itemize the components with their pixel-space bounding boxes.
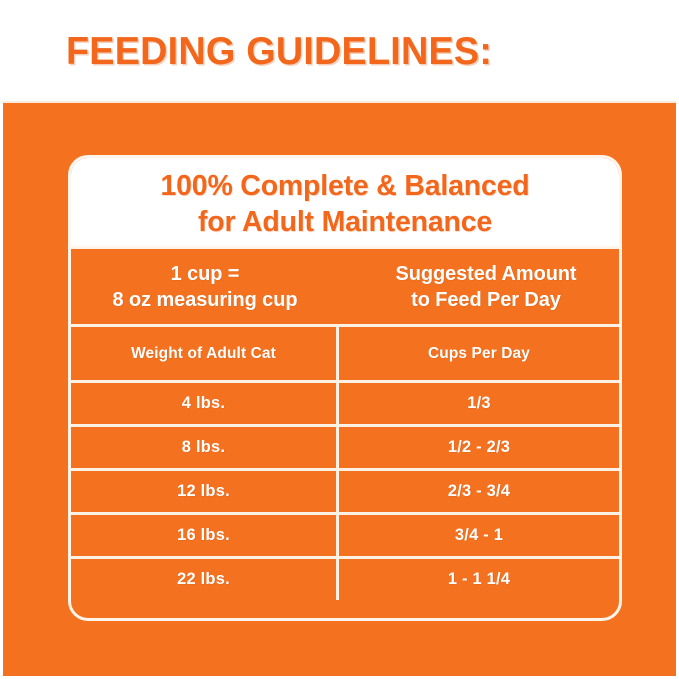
- table-row: 4 lbs. 1/3: [71, 380, 619, 424]
- table-header-row: Weight of Adult Cat Cups Per Day: [71, 324, 619, 380]
- column-header-weight: Weight of Adult Cat: [71, 327, 339, 380]
- headline-line-2: for Adult Maintenance: [198, 204, 492, 240]
- cell-weight: 12 lbs.: [71, 471, 339, 512]
- banner-cell-measuring-cup: 1 cup = 8 oz measuring cup: [71, 249, 345, 324]
- cell-cups: 3/4 - 1: [339, 515, 619, 556]
- cell-cups: 1 - 1 1/4: [339, 559, 619, 600]
- table-row: 12 lbs. 2/3 - 3/4: [71, 468, 619, 512]
- banner-left-line-2: 8 oz measuring cup: [113, 287, 298, 313]
- feeding-guidelines-page: FEEDING GUIDELINES: 100% Complete & Bala…: [0, 0, 679, 679]
- cell-cups: 1/3: [339, 383, 619, 424]
- cell-weight: 16 lbs.: [71, 515, 339, 556]
- cell-weight: 22 lbs.: [71, 559, 339, 600]
- banner-left-line-1: 1 cup =: [171, 261, 240, 287]
- cell-weight: 4 lbs.: [71, 383, 339, 424]
- banner-cell-suggested-amount: Suggested Amount to Feed Per Day: [345, 249, 619, 324]
- table-row: 22 lbs. 1 - 1 1/4: [71, 556, 619, 600]
- page-title: FEEDING GUIDELINES:: [66, 30, 492, 74]
- banner-right-line-1: Suggested Amount: [396, 261, 577, 287]
- banner-right-line-2: to Feed Per Day: [411, 287, 561, 313]
- headline-line-1: 100% Complete & Balanced: [161, 168, 530, 204]
- banner-row: 1 cup = 8 oz measuring cup Suggested Amo…: [71, 246, 619, 324]
- column-header-cups: Cups Per Day: [339, 327, 619, 380]
- cell-weight: 8 lbs.: [71, 427, 339, 468]
- title-band: FEEDING GUIDELINES:: [0, 0, 679, 103]
- card-headline: 100% Complete & Balanced for Adult Maint…: [71, 158, 619, 246]
- cell-cups: 2/3 - 3/4: [339, 471, 619, 512]
- cell-cups: 1/2 - 2/3: [339, 427, 619, 468]
- table-row: 8 lbs. 1/2 - 2/3: [71, 424, 619, 468]
- table-row: 16 lbs. 3/4 - 1: [71, 512, 619, 556]
- feeding-table: Weight of Adult Cat Cups Per Day 4 lbs. …: [71, 324, 619, 600]
- feeding-card: 100% Complete & Balanced for Adult Maint…: [68, 155, 622, 621]
